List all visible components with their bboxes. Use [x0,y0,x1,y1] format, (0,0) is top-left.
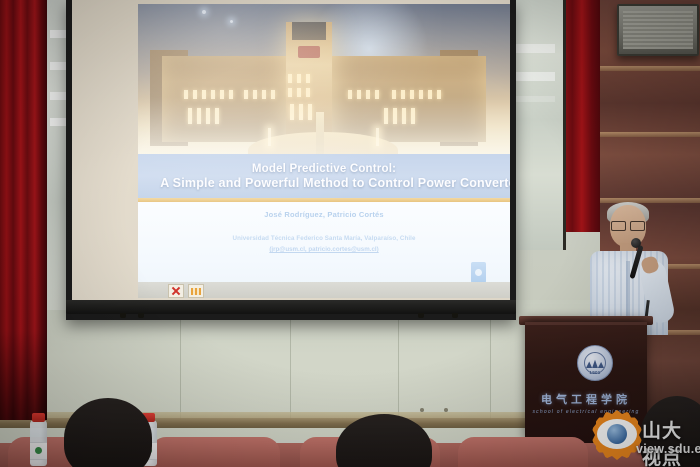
broken-image-icon [188,284,204,298]
broken-image-icon [168,284,184,298]
microphone-head-icon [631,238,641,248]
wall-loudspeaker [617,4,699,56]
screen-tab [138,313,144,318]
stage-curtain-left [0,0,47,420]
slide-photo-building [138,4,510,154]
wood-trim [600,132,700,137]
seat [458,437,588,467]
watermark-pupil-icon [607,424,627,444]
screen-tab [418,313,424,318]
slide-corner-logo [471,262,486,283]
slide-title-line2: A Simple and Powerful Method to Control … [160,176,510,190]
glasses-icon [611,221,645,229]
slide-title-band: Model Predictive Control: A Simple and P… [138,154,510,198]
slide-affiliation: Universidad Técnica Federico Santa María… [233,235,416,242]
slide-emails: (jrp@usm.cl, patricio.cortes@usm.cl) [269,246,378,253]
wood-trim [600,198,700,203]
slide-authors: José Rodríguez, Patricio Cortés [264,210,384,219]
lecture-photo: Model Predictive Control: A Simple and P… [0,0,700,467]
screen-tab [120,313,126,318]
water-bottle [30,420,47,466]
presentation-slide: Model Predictive Control: A Simple and P… [138,4,510,298]
university-emblem-icon: 1901 [577,345,613,381]
projection-screen-bottom-bar [66,300,516,314]
watermark: 山大视点 view.sdu.edu.cn [592,398,700,467]
wood-trim [600,66,700,71]
watermark-url: view.sdu.edu.cn [636,442,700,456]
screen-tab [452,313,458,318]
emblem-year: 1901 [578,370,612,375]
slide-title-line1: Model Predictive Control: [252,163,396,175]
seat [150,437,280,467]
